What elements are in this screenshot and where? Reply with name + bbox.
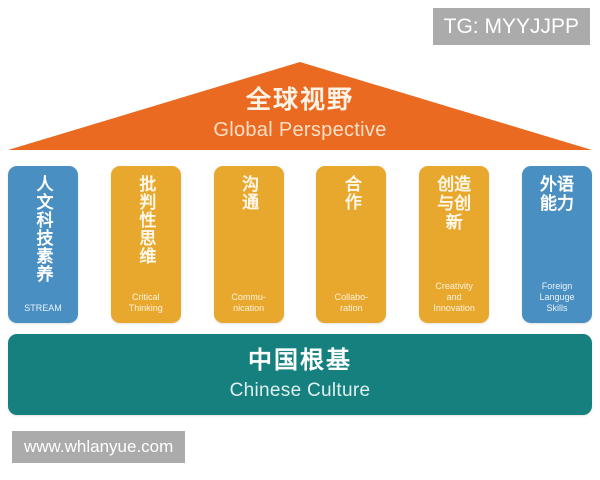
pillar-creativity-innovation[interactable]: 创造与创新 Creativity and Innovation [419,166,489,323]
pillar-critical-thinking[interactable]: 批判性思维 Critical Thinking [111,166,181,323]
pillar-collaboration[interactable]: 合作 Collabo- ration [316,166,386,323]
pillar-title-en: Commu- nication [231,292,266,316]
pillars-row: 人文科技素养 STREAM 批判性思维 Critical Thinking 沟通… [8,166,592,323]
pillar-title-en: Foreign Languge Skills [539,281,574,316]
pillar-title-cn: 合作 [342,175,361,211]
roof-labels: 全球视野 Global Perspective [0,88,600,140]
pillar-title-cn: 沟通 [239,175,258,211]
pillar-title-en: Collabo- ration [335,292,369,316]
pillar-title-cn: 创造与创新 [431,175,477,232]
roof-title-cn: 全球视野 [0,88,600,113]
pillar-title-en: Critical Thinking [129,292,163,316]
watermark-top-right: TG: MYYJJPP [433,8,590,45]
diagram-canvas: 全球视野 Global Perspective 人文科技素养 STREAM 批判… [0,0,600,480]
pillar-communication[interactable]: 沟通 Commu- nication [214,166,284,323]
pillar-title-cn: 批判性思维 [136,175,155,265]
pillar-stream[interactable]: 人文科技素养 STREAM [8,166,78,323]
watermark-bottom-left: www.whlanyue.com [12,431,185,463]
foundation-base[interactable]: 中国根基 Chinese Culture [8,334,592,415]
pillar-title-cn: 人文科技素养 [33,175,52,283]
base-title-cn: 中国根基 [248,349,352,373]
base-title-en: Chinese Culture [230,381,371,400]
pillar-title-en: Creativity and Innovation [433,281,475,316]
roof-title-en: Global Perspective [0,120,600,140]
pillar-foreign-language[interactable]: 外语能力 Foreign Languge Skills [522,166,592,323]
roof-section: 全球视野 Global Perspective [0,56,600,156]
pillar-title-en: STREAM [24,303,62,316]
pillar-title-cn: 外语能力 [534,175,580,213]
